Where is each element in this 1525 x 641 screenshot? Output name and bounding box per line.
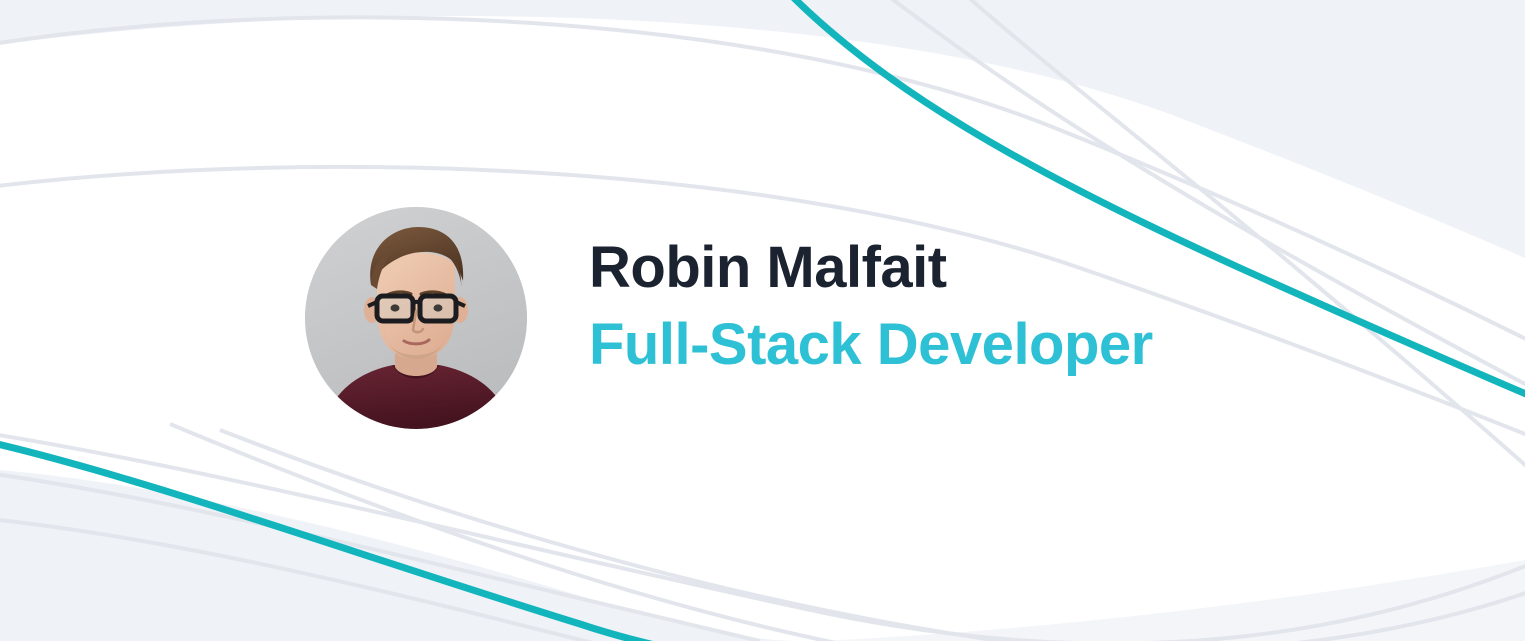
profile-content: Robin Malfait Full-Stack Developer [0,0,1525,641]
profile-banner-card: Robin Malfait Full-Stack Developer [0,0,1525,641]
identity-block: Robin Malfait Full-Stack Developer [589,236,1389,378]
person-role: Full-Stack Developer [589,313,1389,378]
user-photo-icon [305,207,527,429]
avatar [305,207,527,429]
person-name: Robin Malfait [589,236,1389,301]
